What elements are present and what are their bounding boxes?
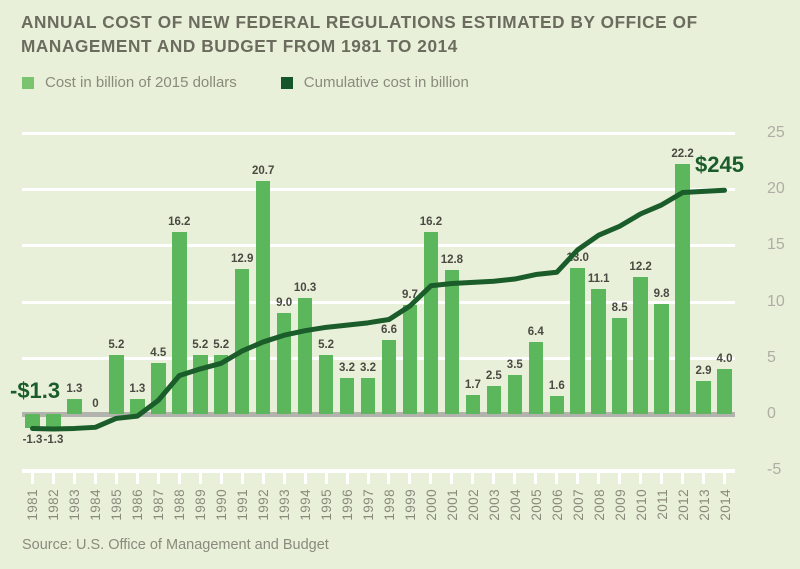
x-axis-label-2008: 2008 [592,489,607,521]
x-tick-2007 [576,473,579,484]
x-tick-2005 [534,473,537,484]
x-axis-label-1986: 1986 [130,489,145,521]
chart-root: ANNUAL COST OF NEW FEDERAL REGULATIONS E… [0,0,800,569]
x-axis-label-1989: 1989 [193,489,208,521]
x-axis-label-1994: 1994 [298,489,313,521]
x-axis-label-1998: 1998 [382,489,397,521]
x-tick-2012 [681,473,684,484]
x-axis-label-1988: 1988 [172,489,187,521]
x-tick-2006 [555,473,558,484]
x-tick-1982 [52,473,55,484]
x-axis-label-1993: 1993 [277,489,292,521]
x-axis-label-1996: 1996 [340,489,355,521]
x-axis-label-1991: 1991 [235,489,250,521]
x-axis-label-1982: 1982 [46,489,61,521]
x-tick-1992 [262,473,265,484]
legend-label-line: Cumulative cost in billion [304,74,469,91]
x-axis-label-1987: 1987 [151,489,166,521]
y-axis-label-15: 15 [767,236,785,254]
y-axis-label-20: 20 [767,180,785,198]
x-tick-2001 [450,473,453,484]
y-axis-label-0: 0 [767,405,776,423]
x-tick-1990 [220,473,223,484]
x-tick-2011 [660,473,663,484]
x-tick-2014 [723,473,726,484]
x-axis-label-2010: 2010 [634,489,649,521]
x-tick-2000 [429,473,432,484]
x-axis-label-2009: 2009 [613,489,628,521]
plot-area: 2520151050-5-1.3-1.31.305.21.34.516.25.2… [22,133,735,470]
x-axis-label-1997: 1997 [361,489,376,521]
y-axis-label-10: 10 [767,293,785,311]
x-axis-label-2007: 2007 [571,489,586,521]
x-axis-label-2014: 2014 [718,489,733,521]
x-axis-label-2011: 2011 [655,489,670,520]
x-axis-label-1984: 1984 [88,489,103,521]
x-tick-1981 [31,473,34,484]
source-note: Source: U.S. Office of Management and Bu… [22,537,329,553]
legend-item-bar: Cost in billion of 2015 dollars [22,74,237,91]
cumulative-line-path [32,190,724,429]
x-axis-label-1985: 1985 [109,489,124,521]
y-axis-label-5: 5 [767,349,776,367]
x-tick-1993 [283,473,286,484]
x-axis-label-2002: 2002 [466,489,481,521]
x-tick-1991 [241,473,244,484]
x-tick-1983 [73,473,76,484]
callout-end-value: $245 [695,152,744,178]
x-tick-2004 [513,473,516,484]
chart-title: ANNUAL COST OF NEW FEDERAL REGULATIONS E… [21,10,781,59]
x-axis-label-2012: 2012 [676,489,691,521]
x-tick-1988 [178,473,181,484]
x-tick-1994 [304,473,307,484]
x-tick-1989 [199,473,202,484]
x-tick-1995 [325,473,328,484]
y-axis-label-25: 25 [767,124,785,142]
x-axis-label-1995: 1995 [319,489,334,521]
y-axis-label--5: -5 [767,461,781,479]
x-tick-1996 [346,473,349,484]
x-tick-1986 [136,473,139,484]
x-axis-line [22,470,735,473]
x-axis-label-1981: 1981 [25,489,40,521]
cumulative-line-series [22,133,735,470]
x-axis-label-1992: 1992 [256,489,271,521]
x-tick-1985 [115,473,118,484]
x-axis-label-1999: 1999 [403,489,418,521]
x-axis-label-2003: 2003 [487,489,502,521]
x-tick-2013 [702,473,705,484]
x-axis-label-2001: 2001 [445,489,460,521]
x-tick-1997 [367,473,370,484]
x-axis-label-2006: 2006 [550,489,565,521]
x-axis-label-2013: 2013 [697,489,712,521]
callout-start-value: -$1.3 [10,378,60,404]
legend-item-line: Cumulative cost in billion [281,74,469,91]
x-tick-2010 [639,473,642,484]
x-tick-2003 [492,473,495,484]
x-axis-label-1983: 1983 [67,489,82,521]
x-axis-label-1990: 1990 [214,489,229,521]
x-tick-2009 [618,473,621,484]
x-tick-1984 [94,473,97,484]
x-tick-1999 [408,473,411,484]
x-axis-label-2000: 2000 [424,489,439,521]
legend-label-bar: Cost in billion of 2015 dollars [45,74,237,91]
x-axis-label-2005: 2005 [529,489,544,521]
chart-legend: Cost in billion of 2015 dollars Cumulati… [22,74,469,91]
square-swatch-icon [22,77,34,89]
x-tick-1998 [387,473,390,484]
x-tick-2002 [471,473,474,484]
x-tick-1987 [157,473,160,484]
square-swatch-icon [281,77,293,89]
x-tick-2008 [597,473,600,484]
x-axis-label-2004: 2004 [508,489,523,521]
